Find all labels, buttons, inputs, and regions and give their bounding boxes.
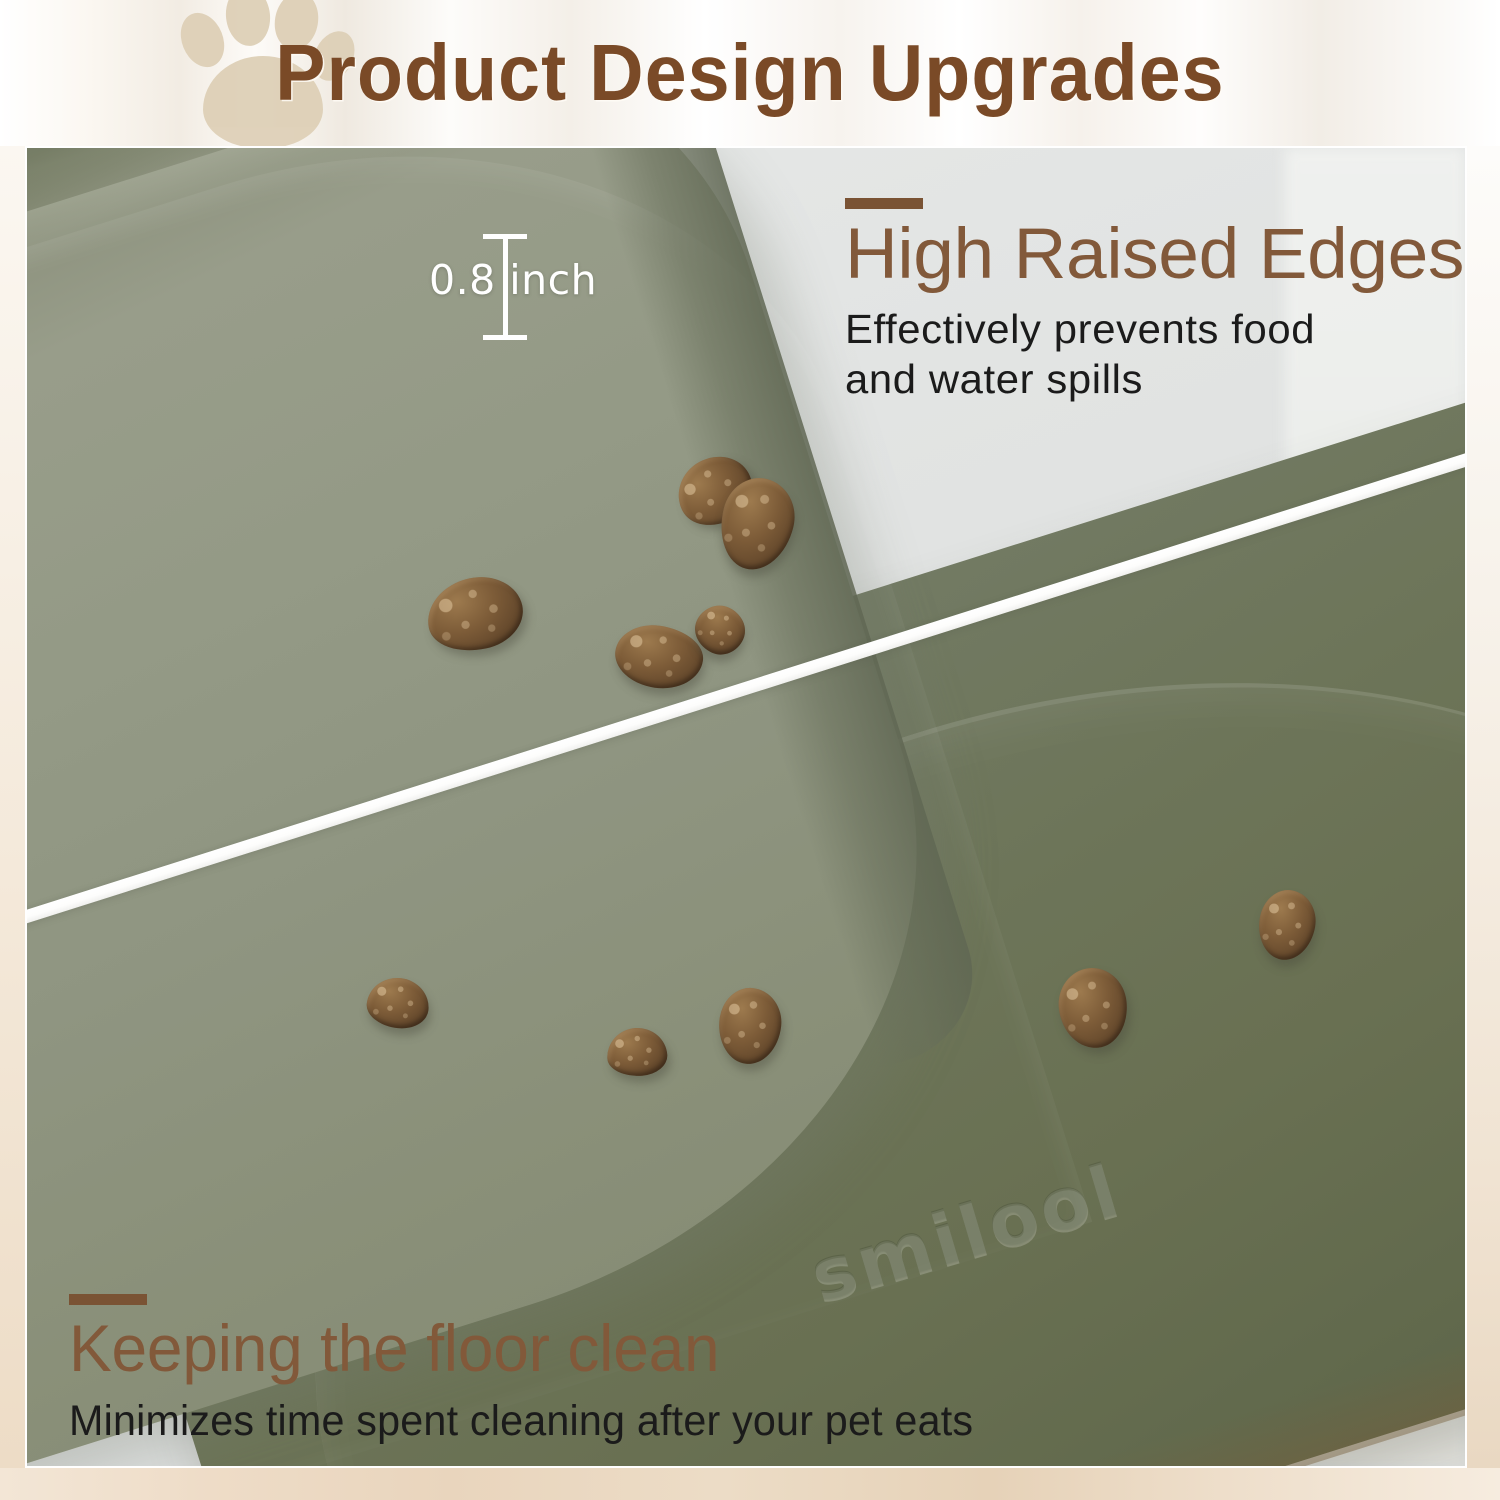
callout-subtitle-line-2: and water spills xyxy=(845,355,1458,404)
product-photo: smilool 0.8 inch H xyxy=(27,148,1465,1466)
header-band: Product Design Upgrades xyxy=(0,0,1500,146)
product-feature-image: Product Design Upgrades smilool xyxy=(0,0,1500,1500)
callout-high-raised-edges: High Raised Edges Effectively prevents f… xyxy=(845,198,1446,404)
dimension-label: 0.8 inch xyxy=(429,256,597,304)
page-title: Product Design Upgrades xyxy=(45,0,1455,146)
photo-margin-left xyxy=(0,146,25,1468)
callout-title: Keeping the floor clean xyxy=(69,1315,983,1382)
photo-margin-right xyxy=(1467,146,1500,1468)
callout-subtitle: Effectively prevents food and water spil… xyxy=(845,305,1458,403)
accent-bar xyxy=(845,198,923,209)
callout-subtitle-line-1: Effectively prevents food xyxy=(845,305,1458,354)
floor-strip xyxy=(0,1468,1500,1500)
callout-title: High Raised Edges xyxy=(845,219,1464,291)
accent-bar xyxy=(69,1294,147,1305)
callout-subtitle: Minimizes time spent cleaning after your… xyxy=(69,1396,973,1448)
product-photo-frame: smilool 0.8 inch H xyxy=(25,146,1467,1468)
callout-subtitle-line-1: Minimizes time spent cleaning after your… xyxy=(69,1396,973,1448)
callout-keeping-floor-clean: Keeping the floor clean Minimizes time s… xyxy=(69,1294,1011,1448)
